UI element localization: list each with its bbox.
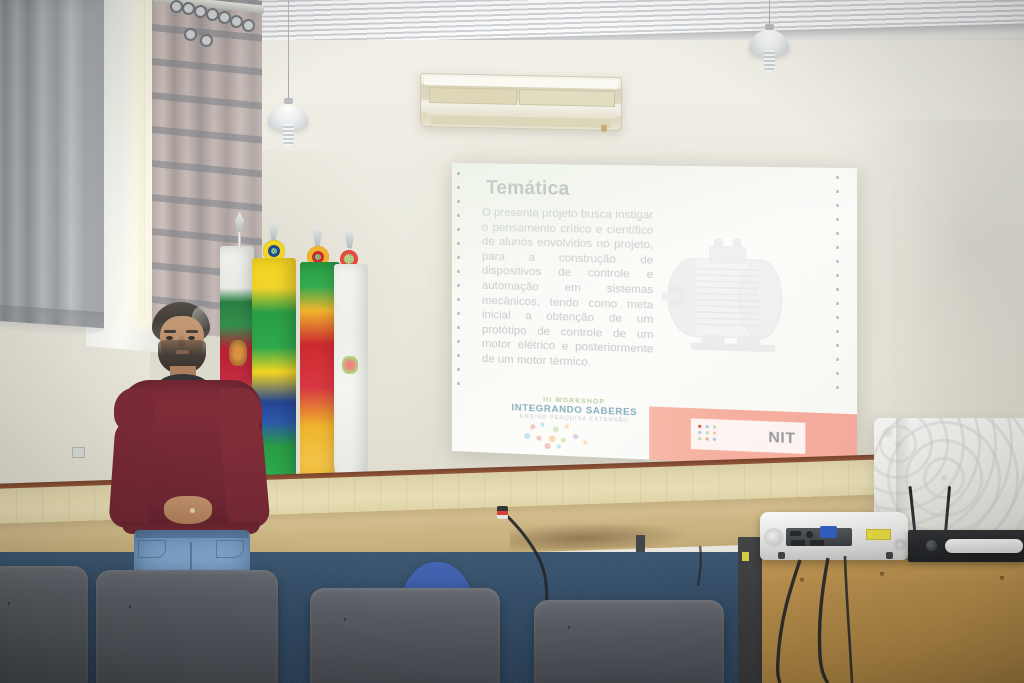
curtain-ring-icon (242, 19, 255, 32)
slide-heading: Temática (486, 177, 570, 200)
ac-vent (429, 87, 517, 105)
cabinet-screw (800, 578, 804, 582)
cfl-bulb-icon (764, 50, 775, 72)
curtain-ring-icon (182, 2, 195, 15)
projector-foot (778, 552, 785, 559)
cabinet-screw (880, 572, 884, 576)
presenter-mouth (176, 350, 189, 354)
projector-speaker-icon (893, 538, 907, 552)
cabinet-asset-tag (742, 552, 749, 561)
stage-stain (510, 519, 690, 551)
auditorium-seat[interactable] (0, 566, 88, 683)
curtain-ring-icon (206, 8, 219, 21)
wall-socket-left (72, 447, 85, 458)
presenter-eyebrow (164, 330, 176, 333)
receiver-volume-knob[interactable] (926, 540, 937, 551)
presenter-arm-left (108, 419, 155, 530)
workshop-logo: III WORKSHOP INTEGRANDO SABERES ENSINO P… (478, 394, 672, 454)
lamp-cord (288, 0, 289, 100)
lamp-cord (769, 0, 770, 26)
auditorium-photo: Temática O presente projeto busca instig… (0, 0, 1024, 683)
projector-asset-tag (866, 529, 891, 540)
presenter-hands (164, 496, 212, 524)
projector-port (806, 531, 813, 538)
slide-body-text: O presente projeto busca instigar o pens… (482, 206, 653, 373)
nit-logo-box: NIT (691, 418, 805, 454)
projector-port (810, 540, 824, 546)
curtain-grey-panel[interactable] (0, 0, 104, 328)
presenter-eyebrow (186, 330, 198, 333)
presenter-jeans-pocket (138, 540, 166, 558)
presenter-ring (190, 508, 195, 513)
presenter (106, 300, 276, 590)
presenter-waist-shadow (136, 530, 248, 538)
projector-port (791, 540, 805, 546)
projector-lens-icon (764, 528, 784, 548)
flag-institutional-emblem (342, 356, 358, 374)
curtain-ring-icon (184, 28, 197, 41)
auditorium-seat[interactable] (310, 588, 500, 683)
projection-screen: Temática O presente projeto busca instig… (452, 163, 857, 469)
workshop-logo-graphic (478, 420, 672, 454)
projector-vga-port[interactable] (820, 526, 837, 538)
curtain-ring-icon (194, 5, 207, 18)
presenter-jeans-pocket (216, 540, 244, 558)
cable-connector (497, 506, 508, 519)
flag-cloth (334, 264, 368, 490)
electric-motor-icon (660, 235, 797, 357)
handheld-microphone[interactable] (945, 539, 1023, 553)
curtain-ring-icon (200, 34, 213, 47)
air-conditioner (420, 73, 622, 131)
curtain-ring-icon (170, 0, 183, 13)
cabinet-screw (1000, 576, 1004, 580)
projector-port (790, 531, 801, 536)
wall-shadow-right (830, 120, 1024, 440)
auditorium-seat[interactable] (534, 600, 724, 683)
cfl-bulb-icon (283, 124, 294, 146)
projector-foot (886, 552, 893, 559)
nit-logo-label: NIT (768, 428, 805, 447)
nit-logo-dots-icon (698, 425, 725, 445)
auditorium-seat[interactable] (96, 570, 278, 683)
presenter-arm-right (219, 418, 270, 529)
ac-pipe (601, 125, 607, 132)
